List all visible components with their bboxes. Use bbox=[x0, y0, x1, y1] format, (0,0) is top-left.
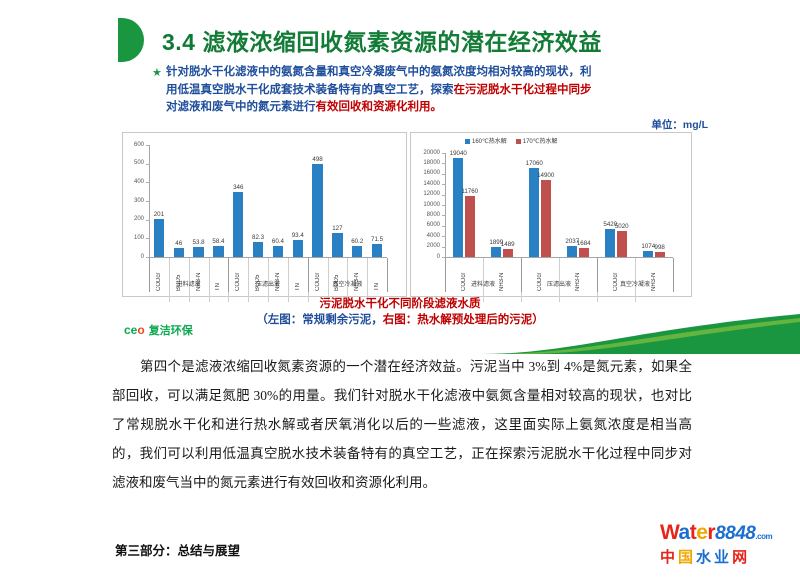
bullet-line-2-part-b: 在污泥脱水干化过程中同步 bbox=[454, 84, 592, 96]
legend-item: 170℃热水解 bbox=[516, 136, 558, 145]
legend-swatch bbox=[516, 139, 521, 144]
y-axis-tick-label: 16000 bbox=[411, 170, 440, 176]
bullet-line-3-part-a: 对滤液和废气中的氮元素进行 bbox=[166, 101, 316, 113]
y-axis-tick-label: 2000 bbox=[411, 243, 440, 249]
watermark-r: r bbox=[707, 521, 715, 544]
bar bbox=[253, 242, 263, 257]
y-axis-tick-label: 8000 bbox=[411, 212, 440, 218]
bar-value-label: 14900 bbox=[532, 172, 560, 179]
slide-area: 3.4 滤液浓缩回收氮素资源的潜在经济效益 ★ 针对脱水干化滤液中的氨氮含量和真… bbox=[0, 0, 800, 350]
y-axis-tick-label: 0 bbox=[411, 254, 440, 260]
chart-legend: 160℃热水解170℃热水解 bbox=[465, 136, 558, 145]
watermark-cn-3: 水 bbox=[696, 549, 714, 566]
bar-value-label: 58.4 bbox=[204, 238, 232, 245]
bar bbox=[312, 164, 322, 257]
y-axis-tick-label: 12000 bbox=[411, 191, 440, 197]
bar-value-label: 1684 bbox=[570, 240, 598, 247]
bar bbox=[154, 219, 164, 257]
title-marker-icon bbox=[118, 18, 144, 62]
star-icon: ★ bbox=[152, 66, 162, 79]
watermark-latin: Water8848.com bbox=[660, 522, 795, 548]
watermark-e: e bbox=[696, 521, 707, 544]
bar-value-label: 998 bbox=[646, 244, 674, 251]
x-axis-group-label: 压滤出液 bbox=[521, 279, 597, 288]
bar bbox=[491, 247, 501, 257]
caption-line-1: 污泥脱水干化不同阶段滤液水质 bbox=[0, 296, 800, 312]
group-separator bbox=[597, 258, 598, 292]
bar-value-label: 1489 bbox=[494, 241, 522, 248]
body-paragraph-container: 第四个是滤液浓缩回收氮素资源的一个潜在经济效益。污泥当中 3%到 4%是氮元素，… bbox=[112, 352, 692, 497]
bar-value-label: 346 bbox=[224, 184, 252, 191]
y-axis-tick-label: 400 bbox=[123, 179, 144, 185]
company-logo: ceo 复洁环保 bbox=[124, 322, 193, 338]
slide-title-row: 3.4 滤液浓缩回收氮素资源的潜在经济效益 bbox=[118, 18, 602, 62]
bar bbox=[643, 251, 653, 257]
x-axis-group-label: 真空冷凝液 bbox=[597, 279, 673, 288]
bar bbox=[617, 231, 627, 257]
chart-right: 0200040006000800010000120001400016000180… bbox=[410, 132, 692, 297]
bar-value-label: 11760 bbox=[456, 188, 484, 195]
page-title: 3.4 滤液浓缩回收氮素资源的潜在经济效益 bbox=[162, 23, 602, 57]
y-axis-tick-label: 200 bbox=[123, 216, 144, 222]
bar bbox=[503, 249, 513, 257]
bar bbox=[352, 246, 362, 257]
watermark-number: 8848 bbox=[715, 523, 755, 544]
group-separator bbox=[521, 258, 522, 292]
watermark-cn-4: 业 bbox=[714, 549, 732, 566]
y-axis-tick-label: 0 bbox=[123, 254, 144, 260]
title-number: 3.4 bbox=[162, 29, 195, 55]
bar bbox=[273, 246, 283, 257]
title-label: 滤液浓缩回收氮素资源的潜在经济效益 bbox=[202, 29, 602, 55]
bar bbox=[213, 246, 223, 257]
y-axis-tick-label: 18000 bbox=[411, 160, 440, 166]
bar-value-label: 201 bbox=[145, 211, 173, 218]
watermark-a: a bbox=[679, 521, 690, 544]
group-separator bbox=[228, 258, 229, 292]
watermark-w: W bbox=[660, 521, 679, 544]
bullet-line-3-part-b: 有效回收和资源化利用。 bbox=[316, 101, 443, 113]
bullet-line-2: 用低温真空脱水干化成套技术装备特有的真空工艺，探索在污泥脱水干化过程中同步 bbox=[166, 82, 686, 100]
bar bbox=[529, 168, 539, 257]
group-bracket bbox=[445, 258, 446, 292]
legend-label: 160℃热水解 bbox=[472, 139, 507, 145]
logo-mark-o: o bbox=[137, 323, 144, 337]
legend-swatch bbox=[465, 139, 470, 144]
bar bbox=[541, 180, 551, 257]
watermark-cn-5: 网 bbox=[732, 549, 750, 566]
bullet-line-3: 对滤液和废气中的氮元素进行有效回收和资源化利用。 bbox=[166, 99, 686, 117]
bar-value-label: 127 bbox=[323, 225, 351, 232]
group-bracket bbox=[673, 258, 674, 292]
bullet-line-1: 针对脱水干化滤液中的氨氮含量和真空冷凝废气中的氨氮浓度均相对较高的现状，利 bbox=[166, 64, 686, 82]
watermark-tld: .com bbox=[755, 532, 772, 541]
bar bbox=[233, 192, 243, 257]
bar bbox=[655, 252, 665, 257]
bullet-line-2-part-a: 用低温真空脱水干化成套技术装备特有的真空工艺，探索 bbox=[166, 84, 454, 96]
bar bbox=[372, 244, 382, 257]
bar bbox=[332, 233, 342, 257]
green-swoosh-decoration bbox=[480, 312, 800, 354]
logo-company-name: 复洁环保 bbox=[149, 322, 193, 338]
bar bbox=[174, 248, 184, 257]
bar-value-label: 93.4 bbox=[284, 232, 312, 239]
y-axis-line bbox=[149, 145, 150, 257]
bullet-block: ★ 针对脱水干化滤液中的氨氮含量和真空冷凝废气中的氨氮浓度均相对较高的现状，利 … bbox=[166, 64, 686, 117]
group-bracket bbox=[149, 258, 150, 292]
y-axis-tick-label: 300 bbox=[123, 198, 144, 204]
caption-line-2-part-a: （左图：常规剩余污泥， bbox=[256, 314, 383, 326]
bar-value-label: 17060 bbox=[520, 160, 548, 167]
watermark-chinese: 中国水业网 bbox=[660, 548, 795, 568]
bar bbox=[567, 246, 577, 257]
bar bbox=[465, 196, 475, 257]
bar bbox=[193, 247, 203, 257]
watermark-cn-1: 中 bbox=[660, 549, 678, 566]
bar-value-label: 71.5 bbox=[363, 236, 391, 243]
legend-label: 170℃热水解 bbox=[523, 139, 558, 145]
y-axis-tick-label: 14000 bbox=[411, 181, 440, 187]
bar-value-label: 19040 bbox=[444, 150, 472, 157]
watermark-cn-2: 国 bbox=[678, 549, 696, 566]
watermark-logo: Water8848.com 中国水业网 bbox=[660, 522, 795, 570]
bar bbox=[293, 240, 303, 257]
chart-left: 0100200300400500600201CODcr46BOD553.8NH3… bbox=[122, 132, 407, 297]
x-axis-group-label: 进料滤液 bbox=[149, 279, 228, 288]
bar-value-label: 498 bbox=[304, 156, 332, 163]
x-axis-group-label: 进料滤液 bbox=[445, 279, 521, 288]
section-heading: 第三部分：总结与展望 bbox=[115, 540, 240, 559]
y-axis-tick-label: 100 bbox=[123, 235, 144, 241]
swoosh-svg bbox=[480, 312, 800, 354]
y-axis-tick-label: 6000 bbox=[411, 222, 440, 228]
group-separator bbox=[308, 258, 309, 292]
y-axis-tick-label: 500 bbox=[123, 160, 144, 166]
unit-label: 单位：mg/L bbox=[651, 117, 708, 132]
body-paragraph: 第四个是滤液浓缩回收氮素资源的一个潜在经济效益。污泥当中 3%到 4%是氮元素，… bbox=[112, 352, 692, 497]
bar-value-label: 60.4 bbox=[264, 238, 292, 245]
y-axis-tick-label: 4000 bbox=[411, 233, 440, 239]
x-axis-group-label: 真空冷凝液 bbox=[308, 279, 387, 288]
bar bbox=[579, 248, 589, 257]
bar bbox=[605, 229, 615, 257]
bar-value-label: 5020 bbox=[608, 223, 636, 230]
group-bracket bbox=[387, 258, 388, 292]
logo-mark-ce: ce bbox=[124, 323, 137, 337]
y-axis-tick-label: 600 bbox=[123, 142, 144, 148]
x-axis-group-label: 压滤出液 bbox=[228, 279, 307, 288]
bar bbox=[453, 158, 463, 257]
y-axis-tick-label: 10000 bbox=[411, 202, 440, 208]
y-axis-tick-label: 20000 bbox=[411, 150, 440, 156]
legend-item: 160℃热水解 bbox=[465, 136, 507, 145]
y-axis-line bbox=[445, 153, 446, 257]
